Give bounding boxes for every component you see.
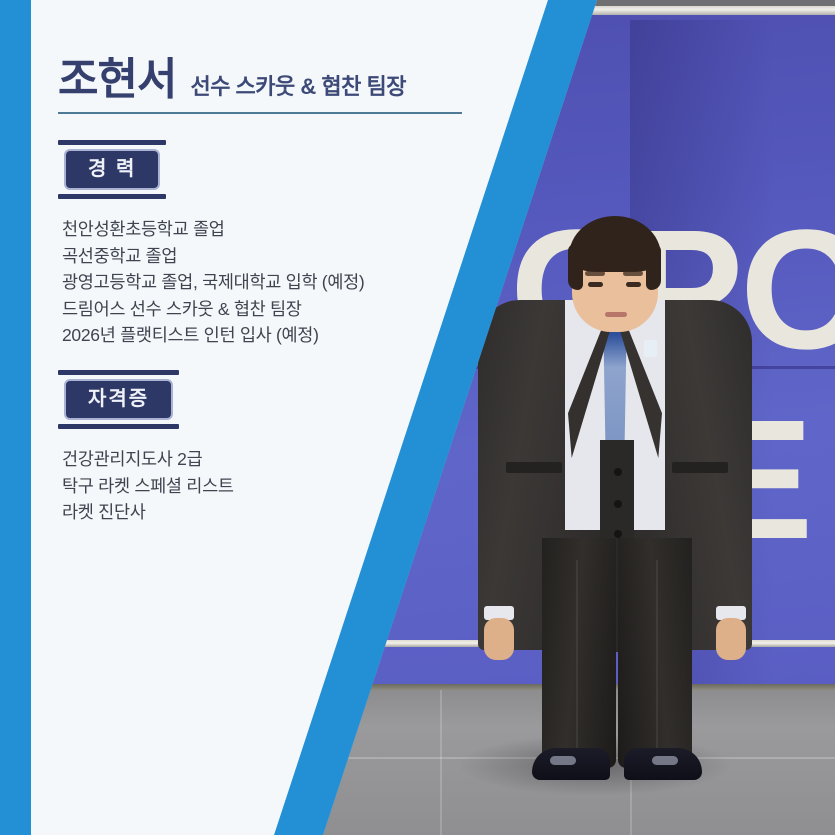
shoe-highlight-left — [550, 756, 576, 765]
trouser-leg-right — [618, 538, 692, 768]
eyebrow-right — [623, 271, 643, 276]
profile-content: 조현서 선수 스카웃 & 협찬 팀장 경 력 천안성환초등학교 졸업 곡선중학교… — [0, 0, 520, 835]
trouser-crease-right — [656, 560, 658, 760]
trouser-crease-left — [576, 560, 578, 760]
name-divider — [58, 112, 462, 114]
section-heading-certifications: 자격증 — [58, 370, 179, 429]
heading-label: 자격증 — [64, 379, 173, 420]
person-name: 조현서 — [58, 58, 176, 102]
shoe-highlight-right — [652, 756, 678, 765]
section-certifications: 자격증 — [58, 370, 179, 429]
heading-top-bar — [58, 370, 179, 375]
list-item: 2026년 플랫티스트 인턴 입사 (예정) — [62, 322, 364, 349]
heading-bottom-bar — [58, 194, 166, 199]
hair-side-left — [568, 244, 583, 290]
hand-right — [716, 618, 746, 660]
heading-bottom-bar — [58, 424, 179, 429]
experience-list: 천안성환초등학교 졸업 곡선중학교 졸업 광영고등학교 졸업, 국제대학교 입학… — [62, 216, 364, 349]
left-accent-bar — [0, 0, 31, 835]
jacket-button-2 — [614, 500, 622, 508]
jacket-pocket-right — [672, 462, 728, 473]
section-heading-experience: 경 력 — [58, 140, 166, 199]
eyebrow-left — [585, 271, 605, 276]
lapel-badge-pin-icon — [644, 340, 657, 357]
mouth — [605, 312, 627, 317]
list-item: 광영고등학교 졸업, 국제대학교 입학 (예정) — [62, 269, 364, 296]
certification-list: 건강관리지도사 2급 탁구 라켓 스페셜 리스트 라켓 진단사 — [62, 446, 234, 526]
list-item: 건강관리지도사 2급 — [62, 446, 234, 473]
eye-right — [626, 282, 641, 287]
list-item: 곡선중학교 졸업 — [62, 243, 364, 270]
section-experience: 경 력 — [58, 140, 166, 199]
profile-card: G P O E I E — [0, 0, 835, 835]
eye-left — [588, 282, 603, 287]
list-item: 드림어스 선수 스카웃 & 협찬 팀장 — [62, 296, 364, 323]
list-item: 천안성환초등학교 졸업 — [62, 216, 364, 243]
jacket-button-3 — [614, 530, 622, 538]
list-item: 탁구 라켓 스페셜 리스트 — [62, 473, 234, 500]
trouser-leg-left — [542, 538, 616, 768]
heading-top-bar — [58, 140, 166, 145]
name-row: 조현서 선수 스카웃 & 협찬 팀장 — [58, 58, 406, 102]
list-item: 라켓 진단사 — [62, 499, 234, 526]
hair-side-right — [646, 244, 661, 290]
person-role: 선수 스카웃 & 협찬 팀장 — [190, 76, 406, 98]
heading-label: 경 력 — [64, 149, 160, 190]
jacket-button-1 — [614, 468, 622, 476]
